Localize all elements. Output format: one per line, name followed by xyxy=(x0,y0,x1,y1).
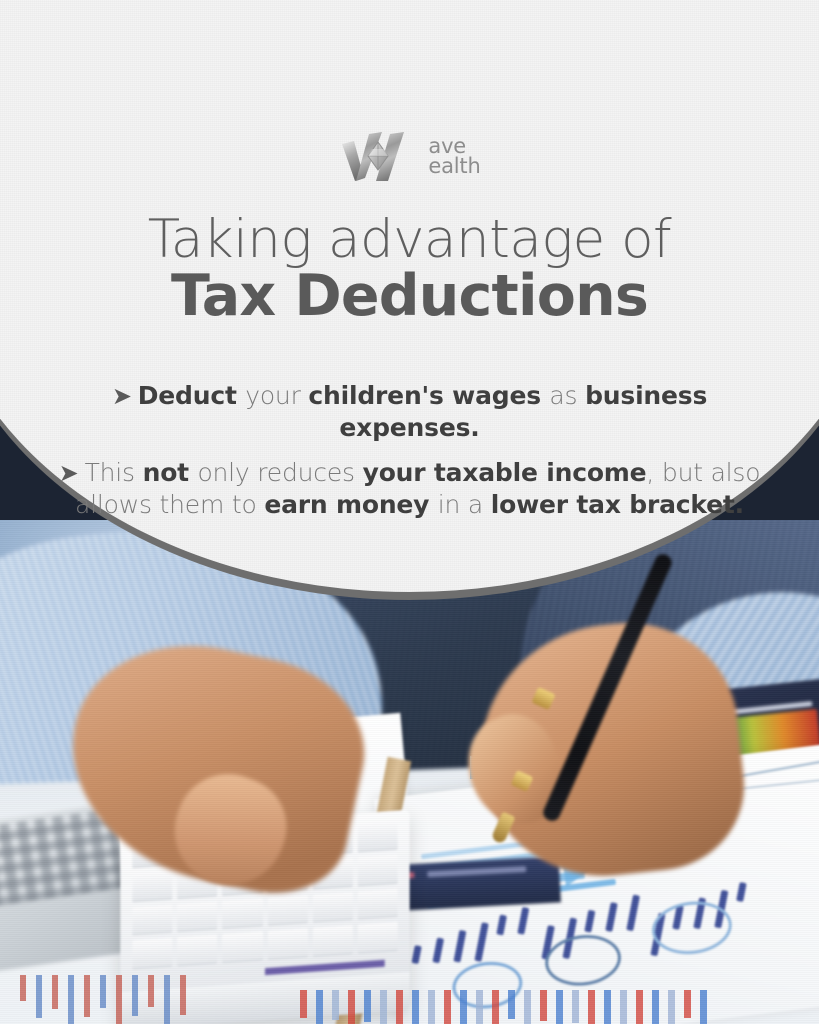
navy-bar xyxy=(626,895,640,932)
page-title: Taking advantage of Tax Deductions xyxy=(0,212,819,327)
calculator-key xyxy=(177,901,217,933)
calculator-key xyxy=(267,928,307,960)
bullet-arrow-icon: ➤ xyxy=(112,382,132,410)
calculator-key xyxy=(313,925,353,957)
navy-bar xyxy=(517,907,529,935)
wave-w-diamond-icon xyxy=(338,126,426,184)
navy-bar xyxy=(736,882,746,902)
bullet-text-segment: Deduct xyxy=(138,381,245,410)
title-line-1: Taking advantage of xyxy=(0,212,819,268)
calculator-key xyxy=(358,922,398,954)
navy-bar xyxy=(453,930,466,963)
bullet-text-segment: in a xyxy=(438,490,491,519)
brand-name-top: ave xyxy=(428,136,480,156)
left-paper-bar-chart xyxy=(20,975,200,1024)
bullet-text-segment: your taxable income xyxy=(363,458,647,487)
navy-bar xyxy=(496,914,507,935)
navy-bar xyxy=(474,922,488,962)
calculator-key xyxy=(132,904,172,936)
navy-bar xyxy=(411,945,421,964)
navy-bar xyxy=(584,910,595,933)
bullet-text-segment: as xyxy=(549,381,585,410)
bullet-list: ➤Deduct your children's wages as busines… xyxy=(56,380,763,534)
bullet-text-segment: children's wages xyxy=(308,381,549,410)
brand-logo[interactable]: ave ealth xyxy=(0,126,819,184)
calculator-key xyxy=(132,938,172,970)
calculator-key xyxy=(222,931,262,963)
bullet-text-segment: your xyxy=(245,381,308,410)
calculator-key xyxy=(222,898,262,930)
panel-content: ave ealth Taking advantage of Tax Deduct… xyxy=(0,0,819,600)
poster-canvas: ave ealth Taking advantage of Tax Deduct… xyxy=(0,0,819,1024)
calculator-key xyxy=(358,854,398,886)
bullet-item: ➤Deduct your children's wages as busines… xyxy=(56,380,763,443)
bullet-arrow-icon: ➤ xyxy=(59,459,79,487)
calculator-key xyxy=(358,821,398,853)
bullet-text-segment: not xyxy=(143,458,198,487)
calculator-key xyxy=(177,935,217,967)
bullet-item: ➤This not only reduces your taxable inco… xyxy=(56,457,763,520)
bullet-text-segment: lower tax bracket. xyxy=(491,490,744,519)
calculator-accent-bar xyxy=(265,960,385,975)
calculator-key xyxy=(132,870,172,902)
calculator-key xyxy=(267,894,307,926)
calculator-key xyxy=(358,888,398,920)
bullet-text-segment: This xyxy=(85,458,143,487)
calculator-key xyxy=(313,891,353,923)
navy-bar xyxy=(605,902,617,932)
navy-bar xyxy=(432,937,444,963)
bullet-text-segment: earn money xyxy=(264,490,437,519)
brand-name-bottom: ealth xyxy=(428,156,480,176)
bottom-paper-bar-chart xyxy=(300,990,720,1024)
title-line-2: Tax Deductions xyxy=(0,266,819,326)
bullet-text-segment: only reduces xyxy=(197,458,362,487)
